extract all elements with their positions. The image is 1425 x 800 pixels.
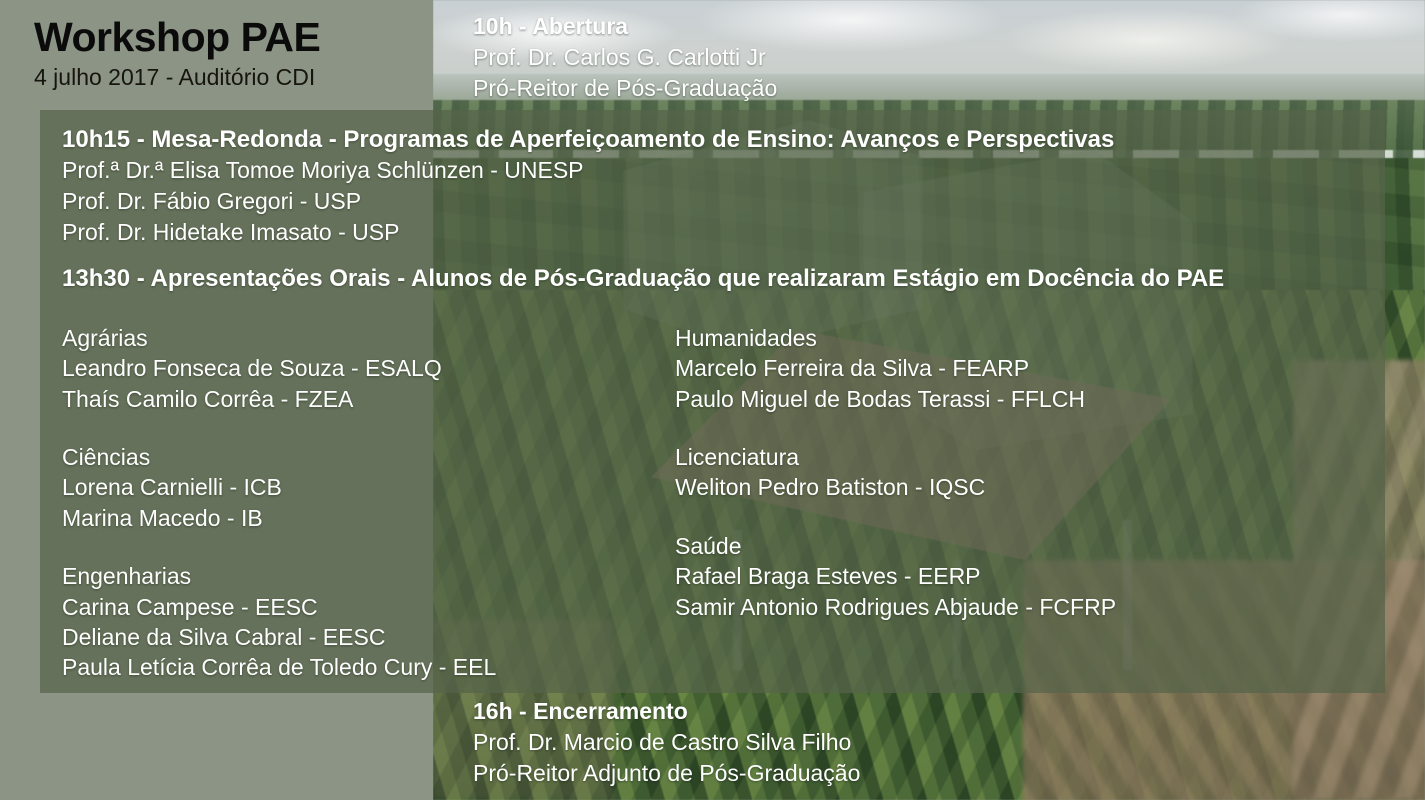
session-encerramento-line-1: Prof. Dr. Marcio de Castro Silva Filho bbox=[473, 727, 860, 758]
presentations-column-right: HumanidadesMarcelo Ferreira da Silva - F… bbox=[675, 323, 1315, 622]
session-apresentacoes-orais: 13h30 - Apresentações Orais - Alunos de … bbox=[62, 263, 1362, 294]
area-group-agrárias: AgráriasLeandro Fonseca de Souza - ESALQ… bbox=[62, 323, 672, 414]
session-mesa-redonda-heading: 10h15 - Mesa-Redonda - Programas de Aper… bbox=[62, 124, 1362, 155]
area-person: Paula Letícia Corrêa de Toledo Cury - EE… bbox=[62, 652, 672, 682]
session-mesa-redonda-line-1: Prof.ª Dr.ª Elisa Tomoe Moriya Schlünzen… bbox=[62, 155, 1362, 186]
area-person: Weliton Pedro Batiston - IQSC bbox=[675, 472, 1315, 502]
area-person: Deliane da Silva Cabral - EESC bbox=[62, 622, 672, 652]
area-group-engenharias: EngenhariasCarina Campese - EESCDeliane … bbox=[62, 561, 672, 682]
area-person: Rafael Braga Esteves - EERP bbox=[675, 561, 1315, 591]
area-name: Ciências bbox=[62, 442, 672, 472]
session-encerramento-line-2: Pró-Reitor Adjunto de Pós-Graduação bbox=[473, 758, 860, 789]
poster-canvas: Workshop PAE 4 julho 2017 - Auditório CD… bbox=[0, 0, 1425, 800]
session-mesa-redonda-line-3: Prof. Dr. Hidetake Imasato - USP bbox=[62, 217, 1362, 248]
poster-subtitle: 4 julho 2017 - Auditório CDI bbox=[34, 64, 434, 90]
area-name: Licenciatura bbox=[675, 442, 1315, 472]
area-name: Agrárias bbox=[62, 323, 672, 353]
area-person: Paulo Miguel de Bodas Terassi - FFLCH bbox=[675, 384, 1315, 414]
area-person: Samir Antonio Rodrigues Abjaude - FCFRP bbox=[675, 592, 1315, 622]
poster-title: Workshop PAE bbox=[34, 16, 434, 59]
area-name: Saúde bbox=[675, 531, 1315, 561]
area-person: Carina Campese - EESC bbox=[62, 592, 672, 622]
area-person: Lorena Carnielli - ICB bbox=[62, 472, 672, 502]
session-abertura-line-2: Pró-Reitor de Pós-Graduação bbox=[473, 73, 777, 104]
area-group-licenciatura: LicenciaturaWeliton Pedro Batiston - IQS… bbox=[675, 442, 1315, 503]
area-person: Thaís Camilo Corrêa - FZEA bbox=[62, 384, 672, 414]
area-group-saúde: SaúdeRafael Braga Esteves - EERPSamir An… bbox=[675, 531, 1315, 622]
presentations-column-left: AgráriasLeandro Fonseca de Souza - ESALQ… bbox=[62, 323, 672, 683]
area-person: Marcelo Ferreira da Silva - FEARP bbox=[675, 353, 1315, 383]
session-encerramento: 16h - Encerramento Prof. Dr. Marcio de C… bbox=[473, 697, 860, 789]
title-block: Workshop PAE 4 julho 2017 - Auditório CD… bbox=[34, 16, 434, 90]
session-mesa-redonda: 10h15 - Mesa-Redonda - Programas de Aper… bbox=[62, 124, 1362, 248]
session-abertura-line-1: Prof. Dr. Carlos G. Carlotti Jr bbox=[473, 42, 777, 73]
area-person: Leandro Fonseca de Souza - ESALQ bbox=[62, 353, 672, 383]
session-apresentacoes-heading: 13h30 - Apresentações Orais - Alunos de … bbox=[62, 263, 1362, 294]
area-name: Humanidades bbox=[675, 323, 1315, 353]
area-person: Marina Macedo - IB bbox=[62, 503, 672, 533]
area-group-humanidades: HumanidadesMarcelo Ferreira da Silva - F… bbox=[675, 323, 1315, 414]
session-abertura-heading: 10h - Abertura bbox=[473, 12, 777, 42]
area-group-ciências: CiênciasLorena Carnielli - ICBMarina Mac… bbox=[62, 442, 672, 533]
session-abertura: 10h - Abertura Prof. Dr. Carlos G. Carlo… bbox=[473, 12, 777, 104]
session-encerramento-heading: 16h - Encerramento bbox=[473, 697, 860, 727]
session-mesa-redonda-line-2: Prof. Dr. Fábio Gregori - USP bbox=[62, 186, 1362, 217]
area-name: Engenharias bbox=[62, 561, 672, 591]
